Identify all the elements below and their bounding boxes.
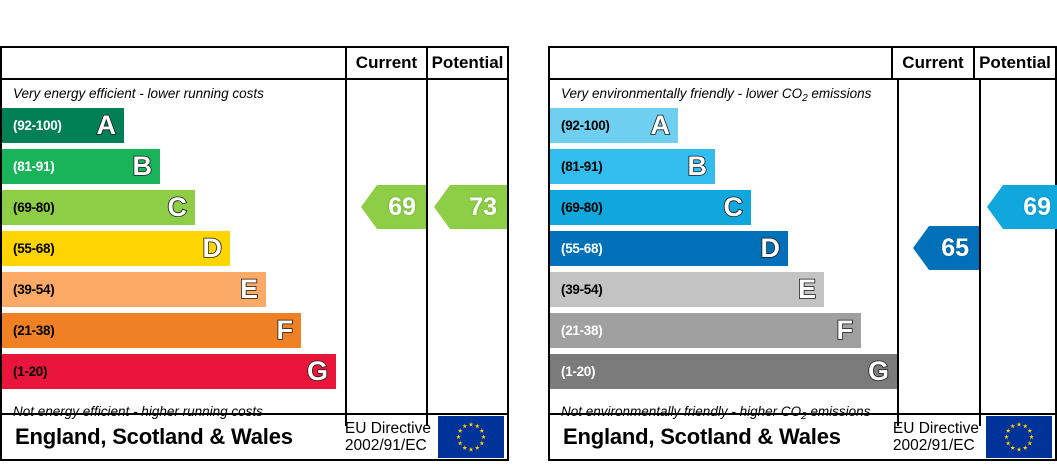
band-row-f: (21-38)F <box>550 313 861 348</box>
band-range-d: (55-68) <box>13 241 54 256</box>
current-column: 65 <box>897 80 979 426</box>
directive-line-2: 2002/91/EC <box>345 437 431 455</box>
band-range-e: (39-54) <box>561 282 602 297</box>
footer-directive: EU Directive 2002/91/EC <box>345 420 438 455</box>
energy-efficiency-title-bar: Energy Efficiency Rating <box>0 0 509 40</box>
top-note: Very energy efficient - lower running co… <box>2 80 345 108</box>
band-list: (92-100)A(81-91)B(69-80)C(55-68)D(39-54)… <box>2 108 345 398</box>
band-range-a: (92-100) <box>13 118 62 133</box>
header-potential: Potential <box>426 48 507 78</box>
potential-rating-marker-value: 73 <box>469 193 497 222</box>
footer: England, Scotland & Wales EU Directive 2… <box>2 413 507 459</box>
band-range-b: (81-91) <box>561 159 602 174</box>
band-range-f: (21-38) <box>13 323 54 338</box>
potential-rating-marker-value: 69 <box>1023 193 1051 222</box>
band-row-d: (55-68)D <box>2 231 230 266</box>
band-range-d: (55-68) <box>561 241 602 256</box>
header-current: Current <box>345 48 426 78</box>
band-list: (92-100)A(81-91)B(69-80)C(55-68)D(39-54)… <box>550 108 897 398</box>
footer: England, Scotland & Wales EU Directive 2… <box>550 413 1055 459</box>
band-letter-g: G <box>307 358 328 385</box>
band-row-d: (55-68)D <box>550 231 788 266</box>
table-body: Very environmentally friendly - lower CO… <box>550 80 1055 426</box>
band-range-c: (69-80) <box>561 200 602 215</box>
top-note-part-1: Very environmentally friendly - lower CO <box>561 86 802 101</box>
epc-certificate-graphs: Energy Efficiency Rating Current Potenti… <box>0 0 1057 467</box>
potential-rating-marker: 69 <box>987 185 1057 229</box>
band-row-b: (81-91)B <box>2 149 160 184</box>
band-row-c: (69-80)C <box>2 190 195 225</box>
bands-column: Very energy efficient - lower running co… <box>2 80 345 426</box>
current-rating-marker-value: 69 <box>388 193 416 222</box>
potential-rating-marker: 73 <box>434 185 507 229</box>
band-row-g: (1-20)G <box>2 354 336 389</box>
top-note-part-2: emissions <box>808 86 872 101</box>
current-rating-marker-value: 65 <box>941 234 969 263</box>
potential-column: 69 <box>979 80 1057 426</box>
band-row-g: (1-20)G <box>550 354 897 389</box>
band-range-e: (39-54) <box>13 282 54 297</box>
table-header-row: Current Potential <box>2 48 507 80</box>
band-row-e: (39-54)E <box>2 272 266 307</box>
table-body: Very energy efficient - lower running co… <box>2 80 507 426</box>
header-potential: Potential <box>973 48 1055 78</box>
footer-directive: EU Directive 2002/91/EC <box>893 420 986 455</box>
energy-efficiency-chart: Energy Efficiency Rating Current Potenti… <box>0 0 509 467</box>
footer-region: England, Scotland & Wales <box>2 424 345 450</box>
directive-line-1: EU Directive <box>893 420 979 438</box>
band-letter-b: B <box>133 153 153 180</box>
eu-flag-icon <box>986 416 1052 458</box>
page-title: Environmental Impact (CO2) Rating <box>566 6 942 35</box>
environmental-impact-title-bar: Environmental Impact (CO2) Rating <box>548 0 1057 40</box>
band-row-b: (81-91)B <box>550 149 715 184</box>
band-row-a: (92-100)A <box>550 108 678 143</box>
environmental-impact-chart: Environmental Impact (CO2) Rating Curren… <box>548 0 1057 467</box>
band-letter-a: A <box>651 112 671 139</box>
band-row-f: (21-38)F <box>2 313 301 348</box>
band-letter-a: A <box>97 112 117 139</box>
header-current: Current <box>891 48 973 78</box>
page-title: Energy Efficiency Rating <box>18 7 284 34</box>
band-range-b: (81-91) <box>13 159 54 174</box>
header-blank-cell <box>2 48 345 78</box>
band-letter-c: C <box>724 194 744 221</box>
band-range-g: (1-20) <box>13 364 47 379</box>
bands-column: Very environmentally friendly - lower CO… <box>550 80 897 426</box>
table-header-row: Current Potential <box>550 48 1055 80</box>
eu-flag-icon <box>438 416 504 458</box>
header-blank-cell <box>550 48 891 78</box>
band-letter-e: E <box>798 276 816 303</box>
band-range-a: (92-100) <box>561 118 610 133</box>
page-title-subscript: 2 <box>850 18 858 35</box>
top-note: Very environmentally friendly - lower CO… <box>550 80 897 108</box>
band-letter-f: F <box>277 317 294 344</box>
band-range-c: (69-80) <box>13 200 54 215</box>
potential-column: 73 <box>426 80 507 426</box>
band-letter-c: C <box>168 194 188 221</box>
band-range-g: (1-20) <box>561 364 595 379</box>
band-row-e: (39-54)E <box>550 272 824 307</box>
current-rating-marker: 65 <box>913 226 979 270</box>
band-row-c: (69-80)C <box>550 190 751 225</box>
band-row-a: (92-100)A <box>2 108 124 143</box>
band-letter-g: G <box>868 358 889 385</box>
footer-region: England, Scotland & Wales <box>550 424 893 450</box>
band-letter-f: F <box>837 317 854 344</box>
band-letter-b: B <box>688 153 708 180</box>
current-column: 69 <box>345 80 426 426</box>
energy-efficiency-frame: Current Potential Very energy efficient … <box>0 46 509 461</box>
environmental-impact-frame: Current Potential Very environmentally f… <box>548 46 1057 461</box>
page-title-main: Environmental Impact (CO <box>566 6 850 32</box>
band-letter-d: D <box>761 235 781 262</box>
band-letter-e: E <box>240 276 258 303</box>
directive-line-1: EU Directive <box>345 420 431 438</box>
current-rating-marker: 69 <box>361 185 426 229</box>
page-title-suffix: ) Rating <box>858 6 942 32</box>
band-letter-d: D <box>203 235 223 262</box>
band-range-f: (21-38) <box>561 323 602 338</box>
directive-line-2: 2002/91/EC <box>893 437 979 455</box>
